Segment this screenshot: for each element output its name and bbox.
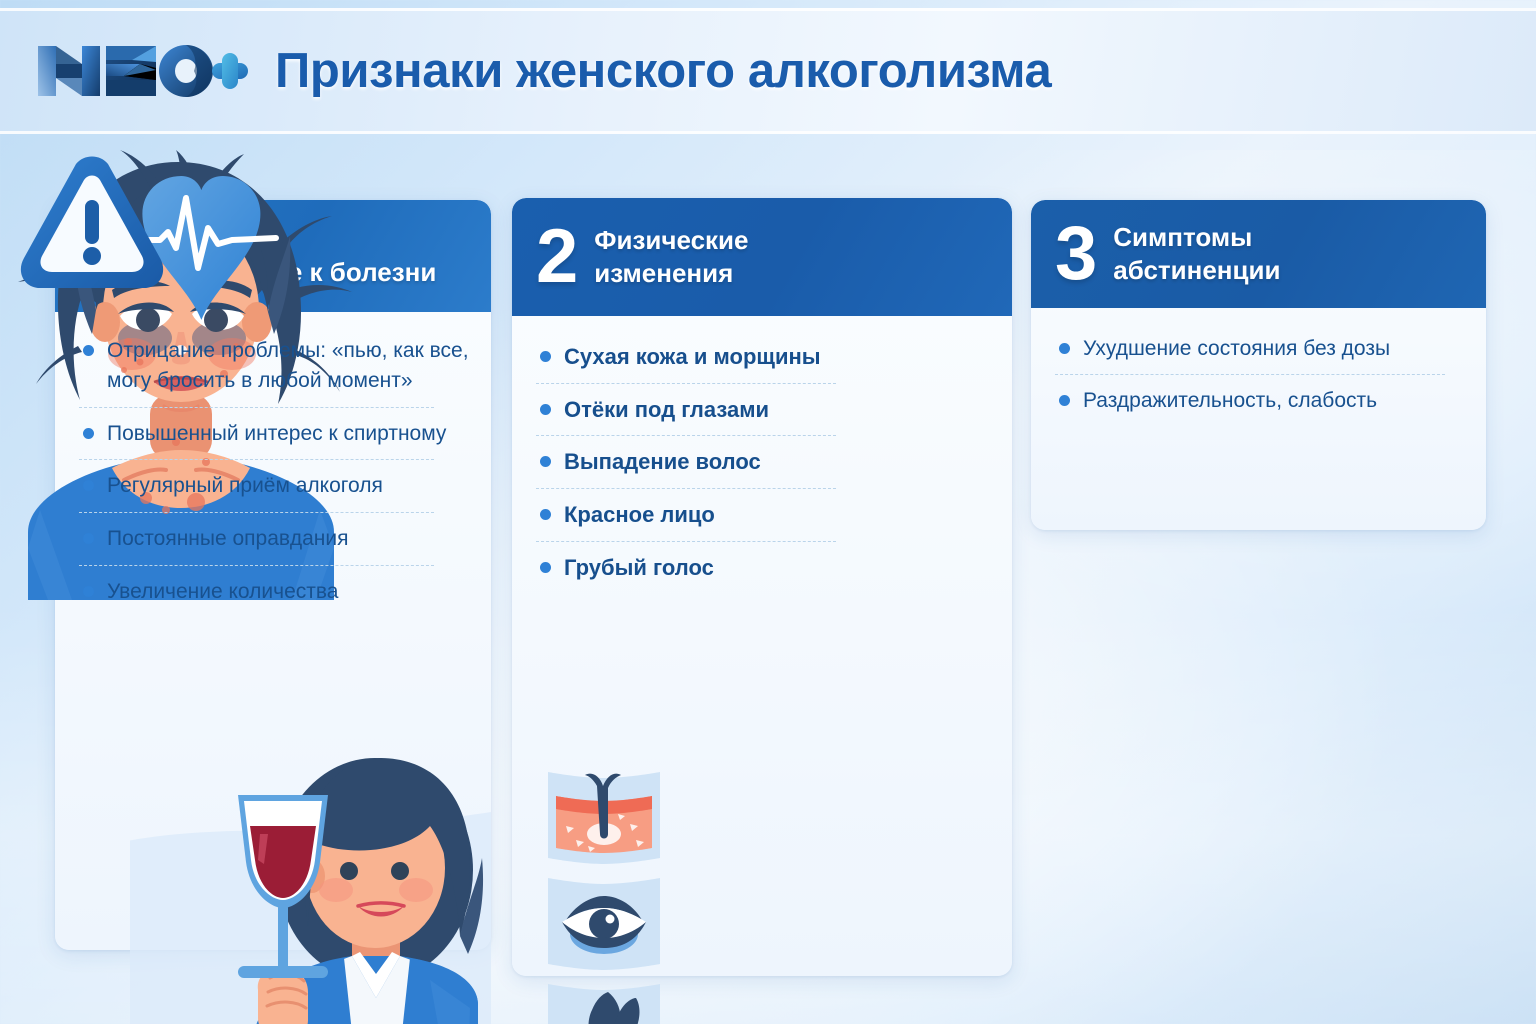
separator — [79, 407, 434, 408]
list-item-text: Ухудшение состояния без дозы — [1083, 334, 1464, 363]
bullet-icon — [1059, 395, 1070, 406]
separator — [79, 565, 434, 566]
card-1-number: 1 — [79, 223, 119, 288]
card-1-title-line1: Поведение — [137, 224, 279, 254]
list-item-text: Грубый голос — [564, 553, 990, 583]
card-physical-changes: 2 Физические изменения Сухая кожа и морщ… — [512, 198, 1012, 976]
list-item: Повышенный интерес к спиртному — [79, 419, 469, 461]
separator — [536, 435, 836, 436]
card-2-number: 2 — [536, 224, 576, 289]
card-1-list: Отрицание проблемы: «пью, как все, могу … — [55, 312, 491, 607]
card-1-title-line2: и отношение к болезни — [137, 256, 436, 289]
bullet-icon — [83, 345, 94, 356]
list-item: Отрицание проблемы: «пью, как все, могу … — [79, 336, 469, 408]
card-3-title-line1: Симптомы — [1113, 222, 1252, 252]
card-3-number: 3 — [1055, 221, 1095, 286]
card-2-list: Сухая кожа и морщины Отёки под глазами В… — [512, 316, 1012, 582]
bullet-icon — [540, 456, 551, 467]
card-2-title-line1: Физические — [594, 225, 748, 255]
list-item-text: Выпадение волос — [564, 447, 990, 477]
list-item-text: Регулярный приём алкоголя — [107, 471, 469, 501]
list-item: Отёки под глазами — [536, 395, 990, 437]
separator — [79, 459, 434, 460]
bullet-icon — [540, 404, 551, 415]
bullet-icon — [540, 351, 551, 362]
list-item: Сухая кожа и морщины — [536, 342, 990, 384]
list-item-text: Раздражительность, слабость — [1083, 386, 1464, 415]
list-item-text: Увеличение количества — [107, 577, 469, 607]
card-2-title-line2: изменения — [594, 257, 748, 290]
bullet-icon — [83, 533, 94, 544]
page-header: Признаки женского алкоголизма — [0, 8, 1536, 134]
list-item: Выпадение волос — [536, 447, 990, 489]
bullet-icon — [540, 562, 551, 573]
list-item-text: Отрицание проблемы: «пью, как все, могу … — [107, 336, 469, 396]
list-item: Красное лицо — [536, 500, 990, 542]
card-1-header: 1 Поведение и отношение к болезни — [55, 200, 491, 312]
bullet-icon — [83, 480, 94, 491]
list-item-text: Красное лицо — [564, 500, 990, 530]
card-1-title: Поведение и отношение к болезни — [137, 223, 436, 289]
card-3-title-line2: абстиненции — [1113, 254, 1280, 287]
bullet-icon — [83, 586, 94, 597]
bullet-icon — [540, 509, 551, 520]
list-item: Грубый голос — [536, 553, 990, 583]
card-3-title: Симптомы абстиненции — [1113, 221, 1280, 287]
list-item: Регулярный приём алкоголя — [79, 471, 469, 513]
card-2-header: 2 Физические изменения — [512, 198, 1012, 316]
card-withdrawal-symptoms: 3 Симптомы абстиненции Ухудшение состоян… — [1031, 200, 1486, 530]
list-item: Ухудшение состояния без дозы — [1055, 334, 1464, 375]
bullet-icon — [83, 428, 94, 439]
bullet-icon — [1059, 343, 1070, 354]
list-item-text: Повышенный интерес к спиртному — [107, 419, 469, 449]
card-3-list: Ухудшение состояния без дозы Раздражител… — [1031, 308, 1486, 416]
separator — [536, 383, 836, 384]
list-item: Постоянные оправдания — [79, 524, 469, 566]
hair-loss-icon — [548, 984, 660, 1024]
list-item: Раздражительность, слабость — [1055, 386, 1464, 415]
card-behavior: 1 Поведение и отношение к болезни Отрица… — [55, 200, 491, 950]
list-item-text: Сухая кожа и морщины — [564, 342, 990, 372]
cards-container: 1 Поведение и отношение к болезни Отрица… — [0, 150, 1536, 1024]
card-3-header: 3 Симптомы абстиненции — [1031, 200, 1486, 308]
card-2-title: Физические изменения — [594, 224, 748, 290]
separator — [536, 488, 836, 489]
separator — [536, 541, 836, 542]
list-item-text: Постоянные оправдания — [107, 524, 469, 554]
list-item-text: Отёки под глазами — [564, 395, 990, 425]
separator — [79, 512, 434, 513]
neo-plus-logo — [34, 35, 249, 107]
separator — [1055, 374, 1445, 375]
page-title: Признаки женского алкоголизма — [275, 43, 1051, 99]
list-item: Увеличение количества — [79, 577, 469, 607]
